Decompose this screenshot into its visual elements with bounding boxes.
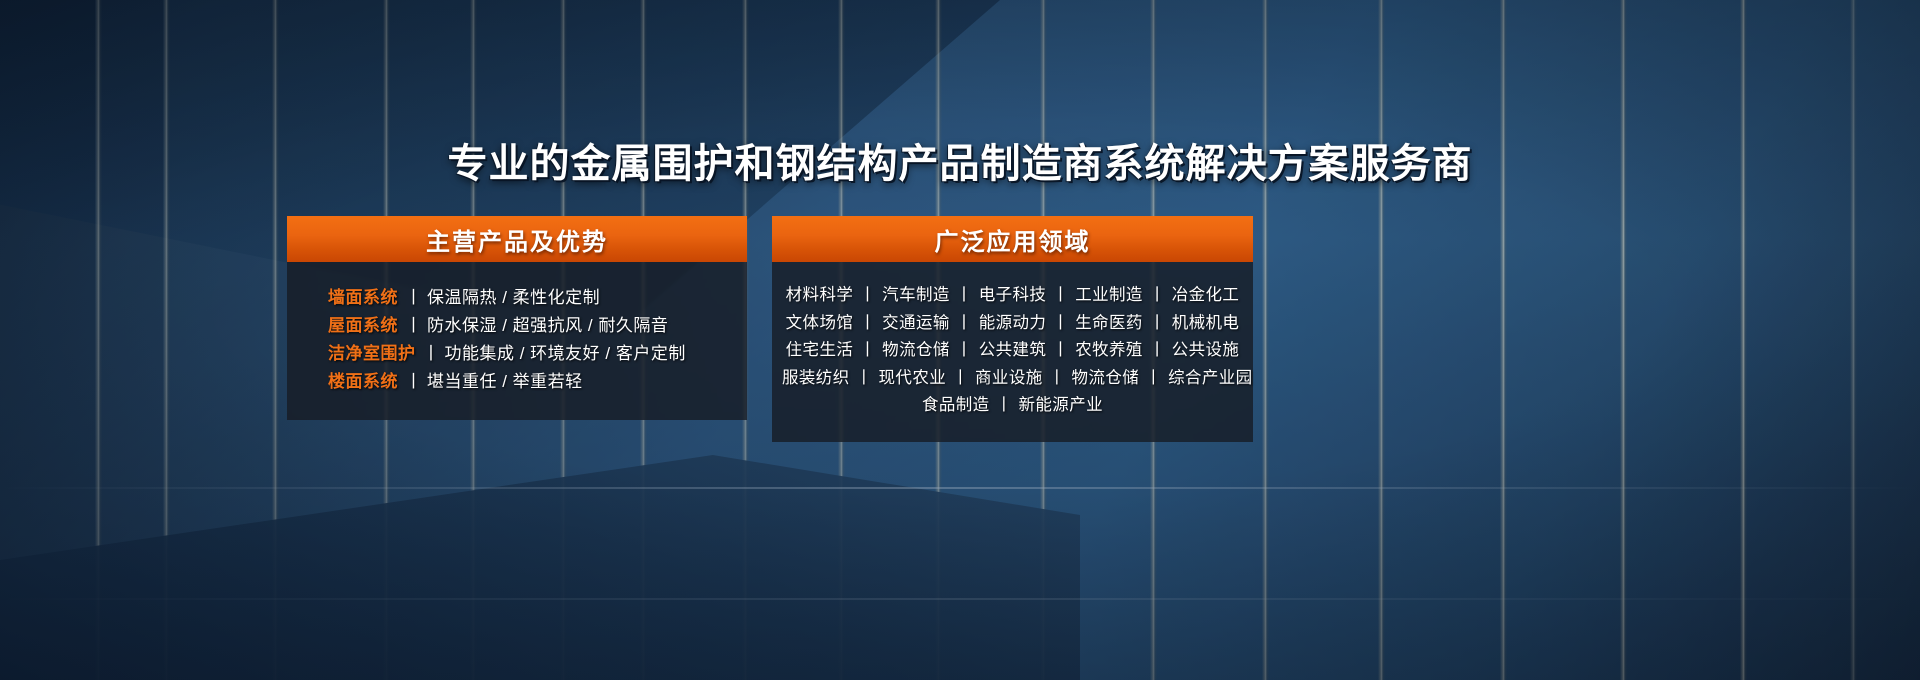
application-field-item: 商业设施 bbox=[975, 369, 1043, 387]
application-field-item: 住宅生活 bbox=[786, 341, 854, 359]
application-field-separator: 丨 bbox=[1143, 341, 1172, 359]
application-field-separator: 丨 bbox=[1143, 314, 1172, 332]
panel-application-fields-header: 广泛应用领域 bbox=[772, 216, 1253, 262]
product-row-label: 屋面系统 bbox=[328, 316, 398, 335]
product-row-description: 防水保湿 / 超强抗风 / 耐久隔音 bbox=[427, 316, 668, 335]
application-field-item: 材料科学 bbox=[786, 286, 854, 304]
application-field-item: 工业制造 bbox=[1075, 286, 1143, 304]
application-field-item: 新能源产业 bbox=[1019, 396, 1104, 414]
application-field-item: 公共建筑 bbox=[979, 341, 1047, 359]
page-title: 专业的金属围护和钢结构产品制造商系统解决方案服务商 bbox=[0, 131, 1920, 189]
application-field-item: 汽车制造 bbox=[882, 286, 950, 304]
application-field-item: 冶金化工 bbox=[1172, 286, 1240, 304]
panel-application-fields: 广泛应用领域 材料科学丨汽车制造丨电子科技丨工业制造丨冶金化工文体场馆丨交通运输… bbox=[772, 216, 1253, 442]
panel-main-products-body: 墙面系统丨保温隔热 / 柔性化定制屋面系统丨防水保湿 / 超强抗风 / 耐久隔音… bbox=[287, 262, 747, 420]
panel-application-fields-body: 材料科学丨汽车制造丨电子科技丨工业制造丨冶金化工文体场馆丨交通运输丨能源动力丨生… bbox=[772, 262, 1253, 442]
application-field-separator: 丨 bbox=[1046, 286, 1075, 304]
application-field-item: 综合产业园 bbox=[1168, 369, 1253, 387]
application-field-row: 文体场馆丨交通运输丨能源动力丨生命医药丨机械机电 bbox=[782, 310, 1243, 338]
application-field-separator: 丨 bbox=[1046, 341, 1075, 359]
application-field-separator: 丨 bbox=[1143, 286, 1172, 304]
product-row-label: 洁净室围护 bbox=[328, 344, 416, 363]
product-row: 墙面系统丨保温隔热 / 柔性化定制 bbox=[287, 284, 747, 312]
application-field-separator: 丨 bbox=[950, 314, 979, 332]
application-field-item: 能源动力 bbox=[979, 314, 1047, 332]
product-row: 楼面系统丨堪当重任 / 举重若轻 bbox=[287, 368, 747, 396]
application-field-item: 文体场馆 bbox=[786, 314, 854, 332]
application-field-item: 物流仓储 bbox=[1072, 369, 1140, 387]
application-field-item: 交通运输 bbox=[882, 314, 950, 332]
application-field-separator: 丨 bbox=[853, 341, 882, 359]
application-field-item: 服装纺织 bbox=[782, 369, 850, 387]
application-field-separator: 丨 bbox=[1043, 369, 1072, 387]
application-field-separator: 丨 bbox=[1139, 369, 1168, 387]
product-row-description: 保温隔热 / 柔性化定制 bbox=[427, 288, 600, 307]
application-field-item: 现代农业 bbox=[879, 369, 947, 387]
application-field-separator: 丨 bbox=[950, 341, 979, 359]
product-row-label: 楼面系统 bbox=[328, 372, 398, 391]
application-field-separator: 丨 bbox=[946, 369, 975, 387]
product-row-separator: 丨 bbox=[398, 372, 427, 391]
application-field-item: 生命医药 bbox=[1075, 314, 1143, 332]
product-row-separator: 丨 bbox=[398, 316, 427, 335]
application-field-row: 材料科学丨汽车制造丨电子科技丨工业制造丨冶金化工 bbox=[782, 282, 1243, 310]
application-field-row: 服装纺织丨现代农业丨商业设施丨物流仓储丨综合产业园 bbox=[782, 365, 1243, 393]
product-row: 屋面系统丨防水保湿 / 超强抗风 / 耐久隔音 bbox=[287, 312, 747, 340]
application-field-separator: 丨 bbox=[990, 396, 1019, 414]
product-row: 洁净室围护丨功能集成 / 环境友好 / 客户定制 bbox=[287, 340, 747, 368]
application-field-item: 电子科技 bbox=[979, 286, 1047, 304]
application-field-item: 农牧养殖 bbox=[1075, 341, 1143, 359]
product-row-description: 功能集成 / 环境友好 / 客户定制 bbox=[445, 344, 686, 363]
application-field-item: 食品制造 bbox=[922, 396, 990, 414]
application-field-separator: 丨 bbox=[853, 314, 882, 332]
product-row-label: 墙面系统 bbox=[328, 288, 398, 307]
application-field-separator: 丨 bbox=[1046, 314, 1075, 332]
panel-main-products-header: 主营产品及优势 bbox=[287, 216, 747, 262]
application-field-separator: 丨 bbox=[850, 369, 879, 387]
product-row-separator: 丨 bbox=[416, 344, 445, 363]
product-row-separator: 丨 bbox=[398, 288, 427, 307]
application-field-separator: 丨 bbox=[950, 286, 979, 304]
application-field-separator: 丨 bbox=[853, 286, 882, 304]
product-row-description: 堪当重任 / 举重若轻 bbox=[427, 372, 583, 391]
application-field-item: 机械机电 bbox=[1172, 314, 1240, 332]
application-field-row: 食品制造丨新能源产业 bbox=[782, 392, 1243, 420]
application-field-item: 公共设施 bbox=[1172, 341, 1240, 359]
application-field-row: 住宅生活丨物流仓储丨公共建筑丨农牧养殖丨公共设施 bbox=[782, 337, 1243, 365]
panel-main-products: 主营产品及优势 墙面系统丨保温隔热 / 柔性化定制屋面系统丨防水保湿 / 超强抗… bbox=[287, 216, 747, 420]
application-field-item: 物流仓储 bbox=[882, 341, 950, 359]
